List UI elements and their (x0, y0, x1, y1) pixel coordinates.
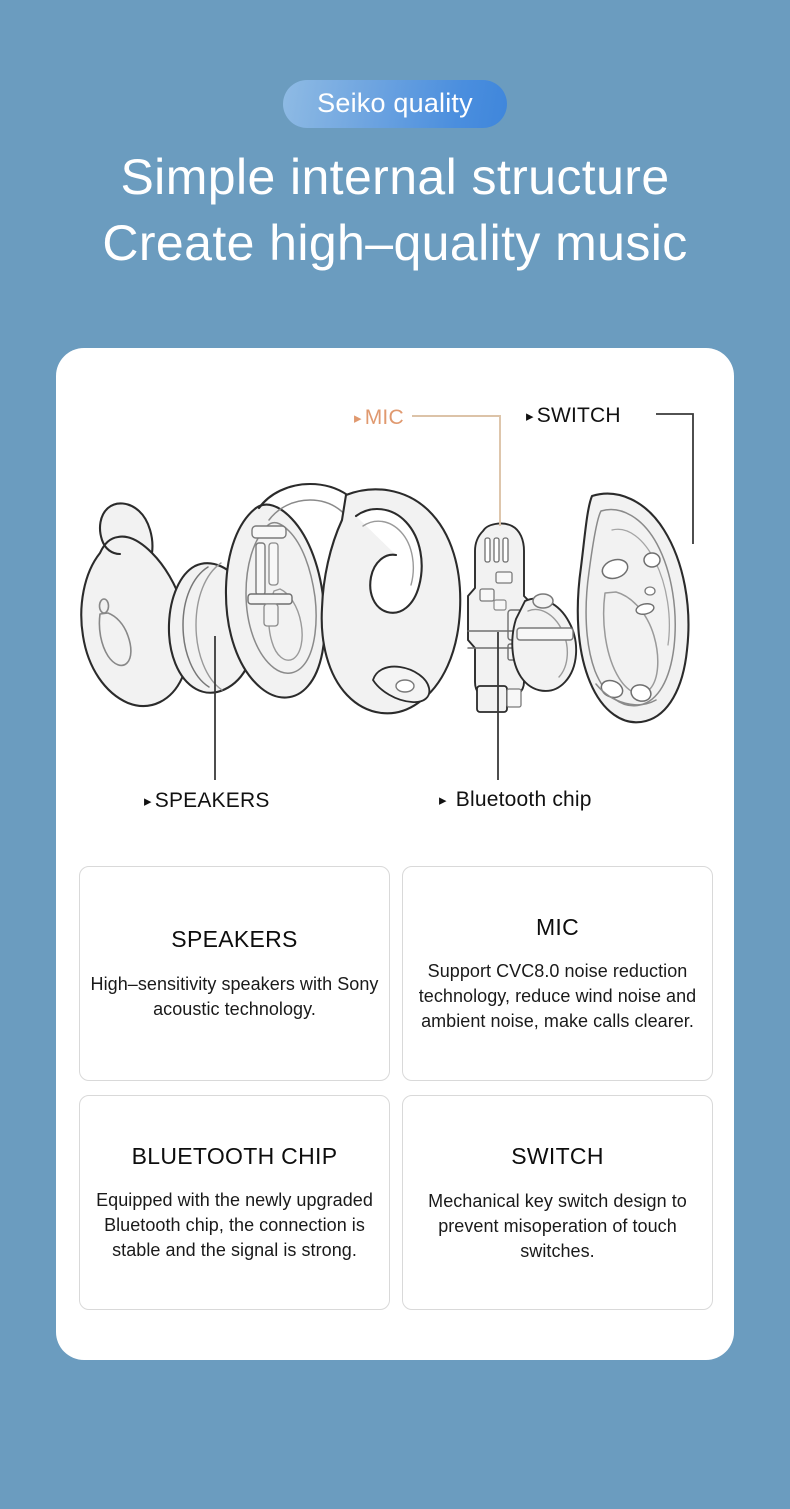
seiko-quality-badge: Seiko quality (283, 80, 507, 128)
feature-card-body: Mechanical key switch design to prevent … (413, 1189, 702, 1264)
exploded-view-diagram: ▸MIC ▸SWITCH ▸SPEAKERS ▸ Bluetooth chip (56, 348, 734, 828)
page-title: Simple internal structure Create high–qu… (0, 144, 790, 276)
diagram-label-bluetooth-chip-text: Bluetooth chip (456, 788, 592, 811)
diagram-label-speakers: ▸SPEAKERS (144, 789, 270, 813)
feature-card-title: MIC (536, 913, 579, 941)
triangle-marker-icon: ▸ (439, 790, 447, 811)
headline-line-1: Simple internal structure (0, 144, 790, 210)
headline-line-2: Create high–quality music (0, 210, 790, 276)
triangle-marker-icon: ▸ (144, 791, 152, 812)
feature-card-title: SPEAKERS (171, 925, 297, 953)
badge-container: Seiko quality (0, 80, 790, 128)
feature-card-title: BLUETOOTH CHIP (132, 1142, 338, 1170)
feature-card-body: Equipped with the newly upgraded Bluetoo… (90, 1188, 379, 1263)
triangle-marker-icon: ▸ (526, 406, 534, 427)
feature-card-switch: SWITCH Mechanical key switch design to p… (402, 1095, 713, 1310)
hero-section: Seiko quality Simple internal structure … (0, 0, 790, 276)
diagram-label-bluetooth-chip: ▸ Bluetooth chip (439, 788, 592, 812)
feature-card-mic: MIC Support CVC8.0 noise reduction techn… (402, 866, 713, 1081)
feature-card-title: SWITCH (511, 1142, 604, 1170)
feature-card-body: Support CVC8.0 noise reduction technolog… (413, 959, 702, 1034)
feature-card-bluetooth-chip: BLUETOOTH CHIP Equipped with the newly u… (79, 1095, 390, 1310)
triangle-marker-icon: ▸ (354, 408, 362, 429)
diagram-label-mic: ▸MIC (354, 406, 404, 430)
feature-cards-grid: SPEAKERS High–sensitivity speakers with … (79, 866, 713, 1310)
diagram-label-switch-text: SWITCH (537, 404, 621, 427)
content-panel: ▸MIC ▸SWITCH ▸SPEAKERS ▸ Bluetooth chip … (56, 348, 734, 1360)
diagram-label-switch: ▸SWITCH (526, 404, 621, 428)
diagram-label-speakers-text: SPEAKERS (155, 789, 270, 812)
feature-card-body: High–sensitivity speakers with Sony acou… (90, 972, 379, 1022)
feature-card-speakers: SPEAKERS High–sensitivity speakers with … (79, 866, 390, 1081)
diagram-label-mic-text: MIC (365, 406, 404, 429)
